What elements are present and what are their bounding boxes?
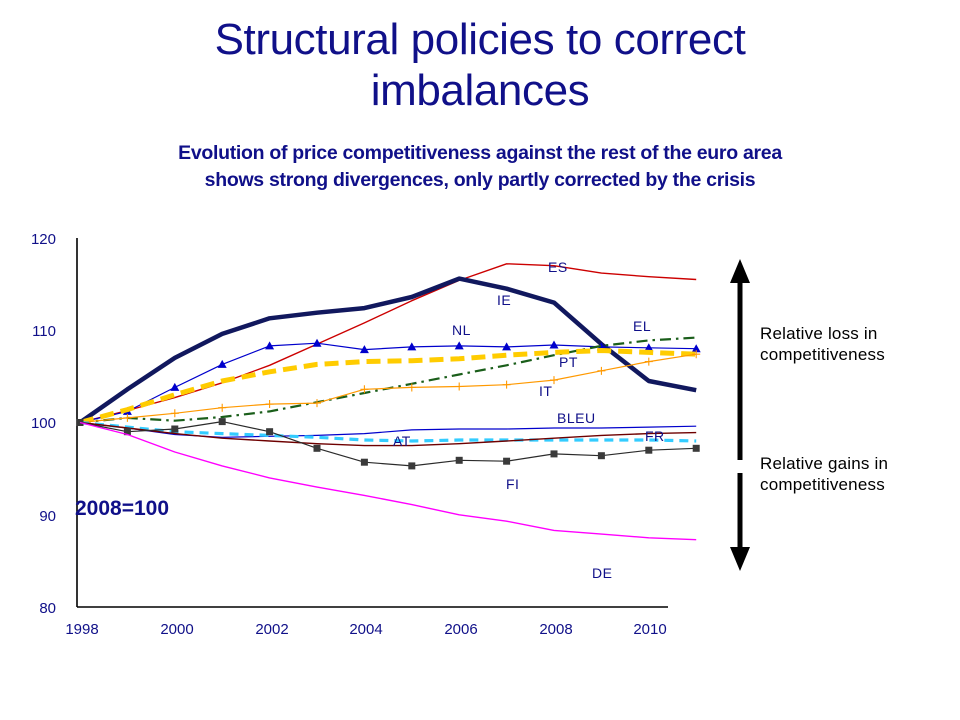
series-marker-fi <box>408 462 415 469</box>
competitiveness-annotations: Relative loss in competitiveness Relativ… <box>715 255 960 575</box>
y-tick-label: 120 <box>10 231 56 248</box>
subtitle-line-1: Evolution of price competitiveness again… <box>0 140 960 167</box>
series-label-fi: FI <box>506 476 519 492</box>
series-label-bleu: BLEU <box>557 410 596 426</box>
series-marker-it <box>218 404 226 412</box>
y-tick-label: 100 <box>10 415 56 432</box>
base-year-note: 2008=100 <box>75 497 169 521</box>
x-tick-label: 2004 <box>336 621 396 638</box>
series-label-it: IT <box>539 383 552 399</box>
series-label-pt: PT <box>559 354 578 370</box>
y-tick-label: 80 <box>10 600 56 617</box>
series-marker-nl <box>218 360 227 368</box>
series-label-at: AT <box>393 433 411 449</box>
series-marker-fi <box>598 452 605 459</box>
series-label-fr: FR <box>645 428 665 444</box>
series-marker-it <box>455 383 463 391</box>
series-marker-fi <box>266 428 273 435</box>
subtitle-block: Evolution of price competitiveness again… <box>0 140 960 194</box>
series-marker-fi <box>693 445 700 452</box>
series-marker-fi <box>219 418 226 425</box>
annotation-arrows-svg <box>715 255 775 575</box>
series-line-nl <box>80 343 696 422</box>
page-title: Structural policies to correct imbalance… <box>0 14 960 116</box>
series-label-es: ES <box>548 259 568 275</box>
series-label-el: EL <box>633 318 651 334</box>
series-label-ie: IE <box>497 292 511 308</box>
series-marker-nl <box>170 383 179 391</box>
x-tick-label: 2002 <box>242 621 302 638</box>
relative-loss-label: Relative loss in competitiveness <box>760 323 885 365</box>
title-block: Structural policies to correct imbalance… <box>0 14 960 116</box>
series-marker-it <box>123 414 131 422</box>
series-marker-it <box>597 367 605 375</box>
chart-plot-svg <box>0 215 720 675</box>
series-marker-fi <box>361 459 368 466</box>
series-marker-fi <box>171 426 178 433</box>
series-marker-it <box>171 409 179 417</box>
x-tick-label: 1998 <box>52 621 112 638</box>
y-tick-label: 90 <box>10 508 56 525</box>
series-marker-fi <box>456 457 463 464</box>
x-tick-label: 2010 <box>620 621 680 638</box>
slide-canvas: Structural policies to correct imbalance… <box>0 0 960 720</box>
series-marker-it <box>645 358 653 366</box>
x-tick-label: 2000 <box>147 621 207 638</box>
series-marker-it <box>313 399 321 407</box>
series-label-nl: NL <box>452 322 471 338</box>
line-chart: 120 110 100 90 80 1998 2000 2002 2004 20… <box>0 215 720 675</box>
down-arrow-icon <box>730 473 750 571</box>
series-marker-it <box>503 381 511 389</box>
x-tick-label: 2008 <box>526 621 586 638</box>
series-marker-fi <box>645 447 652 454</box>
subtitle-line-2: shows strong divergences, only partly co… <box>0 167 960 194</box>
relative-gains-label: Relative gains in competitiveness <box>760 453 888 495</box>
y-tick-label: 110 <box>10 323 56 340</box>
series-marker-fi <box>503 458 510 465</box>
series-marker-it <box>266 400 274 408</box>
series-marker-fi <box>551 450 558 457</box>
chart-series-group <box>77 264 701 540</box>
x-tick-label: 2006 <box>431 621 491 638</box>
series-label-de: DE <box>592 565 612 581</box>
series-marker-nl <box>550 341 559 349</box>
series-marker-fi <box>314 445 321 452</box>
up-arrow-icon <box>730 259 750 460</box>
